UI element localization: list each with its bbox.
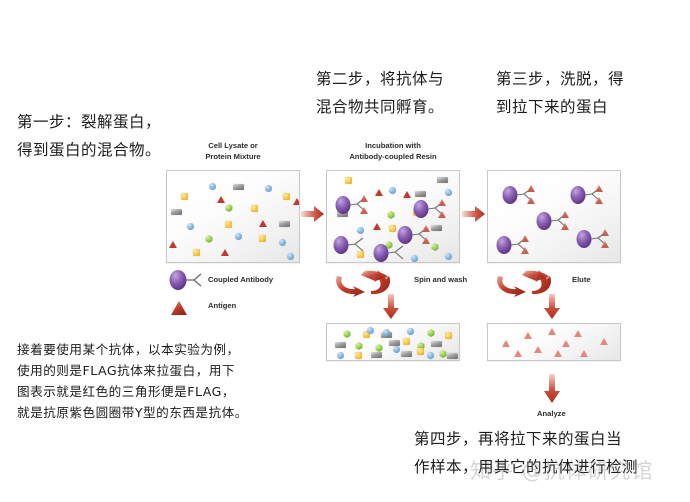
protein-square	[251, 205, 258, 212]
protein-rect	[431, 341, 442, 347]
protein-rect	[389, 340, 400, 346]
legend-label-coupled-antibody: Coupled Antibody	[208, 275, 273, 284]
protein-circle	[427, 352, 434, 359]
protein-circle	[445, 189, 452, 196]
spin-and-wash-label: Spin and wash	[414, 275, 467, 284]
antigen-triangle	[580, 350, 588, 357]
arrow-incubation-to-bound	[462, 205, 486, 228]
protein-rect	[431, 225, 442, 231]
protein-circle	[235, 233, 242, 240]
protein-rect	[279, 221, 290, 227]
protein-square	[389, 225, 396, 232]
antigen-triangle	[574, 330, 582, 337]
protein-hexagon	[375, 344, 383, 352]
protein-circle	[383, 329, 390, 336]
protein-rect	[437, 177, 448, 183]
antigen-triangle	[221, 249, 229, 256]
protein-square	[403, 338, 410, 345]
step1-annotation: 第一步：裂解蛋白， 得到蛋白的混合物。	[17, 108, 161, 164]
protein-hexagon	[439, 350, 447, 358]
protein-square	[283, 193, 290, 200]
coupled-antibody	[333, 233, 367, 260]
antigen-triangle	[514, 350, 522, 357]
antigen-triangle	[562, 340, 570, 347]
flow-through-panel	[326, 323, 460, 361]
antigen-triangle	[169, 241, 177, 248]
protein-hexagon	[355, 342, 363, 350]
arrow-lysate-to-incubation	[301, 205, 325, 228]
antibody-antigen-complex	[413, 197, 447, 224]
antigen-triangle	[600, 338, 608, 345]
antigen-triangle	[375, 189, 383, 196]
protein-square	[225, 221, 232, 228]
antibody-antigen-complex	[536, 209, 570, 236]
protein-circle	[265, 185, 272, 192]
coupled-antibody	[373, 241, 407, 263]
legend-item-coupled-antibody: Coupled Antibody	[168, 270, 318, 296]
analyze-label: Analyze	[537, 409, 566, 418]
protein-rect	[335, 342, 346, 348]
antigen-triangle	[217, 196, 225, 203]
explanation-annotation: 接着要使用某个抗体，以本实验为例， 使用的则是FLAG抗体来拉蛋白，用下 图表示…	[17, 339, 248, 423]
antigen-triangle	[259, 220, 267, 227]
protein-circle	[287, 253, 294, 260]
elute-label: Elute	[572, 275, 591, 284]
protein-circle	[389, 187, 396, 194]
protein-square	[355, 352, 362, 359]
protein-hexagon	[427, 329, 435, 337]
protein-circle	[337, 352, 344, 359]
step4-annotation: 第四步，再将拉下来的蛋白当 作样本，用其它的抗体进行检测	[414, 425, 638, 481]
protein-circle	[279, 239, 286, 246]
protein-circle	[407, 328, 414, 335]
red-triangle-icon	[170, 300, 188, 321]
protein-square	[417, 348, 424, 355]
purple-oval-antibody-icon	[168, 270, 204, 295]
arrow-to-eluate	[543, 294, 561, 325]
antibody-antigen-complex	[502, 183, 536, 210]
protein-hexagon	[205, 235, 213, 243]
protein-rect	[447, 353, 458, 359]
protein-hexagon	[431, 243, 439, 251]
protein-hexagon	[387, 211, 395, 219]
protein-circle	[393, 346, 400, 353]
antibody-antigen-complex	[576, 227, 610, 254]
antigen-triangle	[502, 340, 510, 347]
cell-lysate-panel	[166, 170, 300, 263]
protein-rect	[171, 209, 182, 215]
protein-hexagon	[343, 330, 351, 338]
arrow-to-flow-through	[382, 294, 400, 325]
incubation-panel	[326, 170, 460, 263]
protein-circle	[209, 183, 216, 190]
protein-circle	[187, 223, 194, 230]
protein-square	[445, 332, 452, 339]
antibody-antigen-complex	[496, 233, 530, 260]
protein-square	[259, 235, 266, 242]
protein-rect	[401, 351, 412, 357]
antigen-triangle	[403, 191, 411, 198]
antigen-triangle	[373, 223, 381, 230]
bound-complex-panel	[487, 170, 621, 263]
protein-rect	[233, 184, 244, 190]
protein-circle	[411, 255, 418, 262]
cell-lysate-caption: Cell Lysate or Protein Mixture	[166, 140, 300, 162]
legend: Coupled Antibody Antigen	[168, 270, 318, 322]
antigen-triangle	[534, 346, 542, 353]
protein-rect	[371, 352, 382, 358]
step2-annotation: 第二步，将抗体与 混合物共同孵育。	[316, 65, 444, 121]
step3-annotation: 第三步，洗脱，得 到拉下来的蛋白	[496, 65, 624, 121]
antigen-triangle	[293, 198, 300, 205]
protein-square	[345, 177, 352, 184]
antigen-triangle	[554, 350, 562, 357]
protein-square	[181, 193, 188, 200]
eluate-panel	[487, 323, 621, 361]
protein-hexagon	[225, 204, 233, 212]
antibody-antigen-complex	[335, 193, 369, 220]
protein-circle	[445, 253, 452, 260]
protein-square	[193, 249, 200, 256]
incubation-caption: Incubation with Antibody-coupled Resin	[326, 140, 460, 162]
antigen-triangle	[548, 328, 556, 335]
ip-workflow-diagram: 第一步：裂解蛋白， 得到蛋白的混合物。 第二步，将抗体与 混合物共同孵育。 第三…	[0, 0, 690, 502]
protein-circle	[367, 327, 374, 334]
legend-label-antigen: Antigen	[208, 301, 236, 310]
antigen-triangle	[524, 332, 532, 339]
antibody-antigen-complex	[570, 183, 604, 210]
arrow-to-analyze	[543, 374, 561, 409]
legend-item-antigen: Antigen	[168, 296, 318, 322]
